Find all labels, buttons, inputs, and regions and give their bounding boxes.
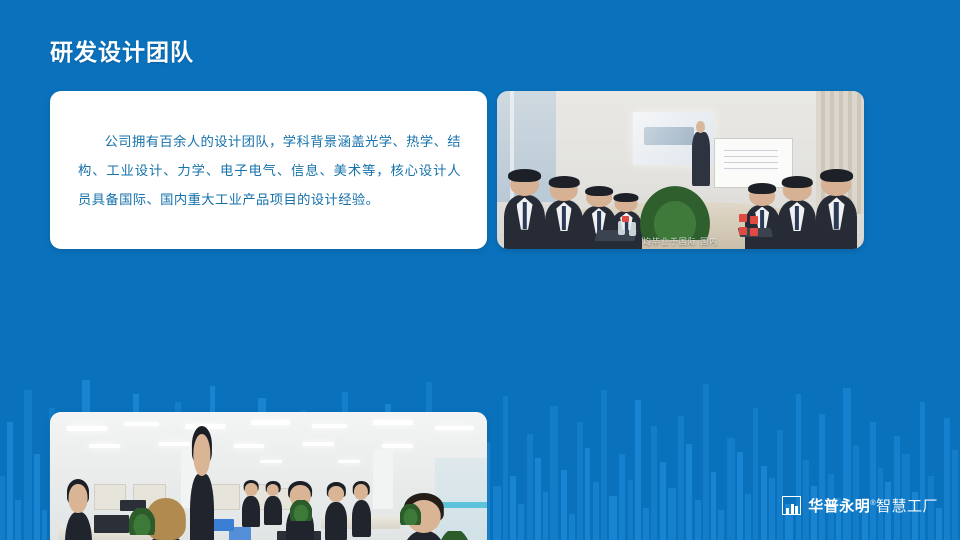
description-paragraph: 公司拥有百余人的设计团队，学科背景涵盖光学、热学、结构、工业设计、力学、电子电气… [78,127,461,214]
brand-logo: 华普永明®智慧工厂 [782,495,938,516]
office-window [435,458,487,540]
photo-open-office [50,412,487,540]
photo-caption: 均毕业于国际 国内 [497,236,864,247]
whiteboard [714,138,793,187]
meeting-room-illustration: 均毕业于国际 国内 [497,91,864,249]
brand-name: 华普永明 [808,498,870,515]
brand-sub: 智慧工厂 [876,498,938,515]
brand-wordmark: 华普永明®智慧工厂 [808,495,938,516]
open-office-illustration [50,412,487,540]
page-title: 研发设计团队 [50,33,194,67]
building-bars-icon [782,496,801,515]
presenter-figure [692,132,710,186]
table-plant [640,186,710,240]
photo-meeting-room: 均毕业于国际 国内 [497,91,864,249]
description-card: 公司拥有百余人的设计团队，学科背景涵盖光学、热学、结构、工业设计、力学、电子电气… [50,91,487,249]
slide-canvas: 研发设计团队 公司拥有百余人的设计团队，学科背景涵盖光学、热学、结构、工业设计、… [0,0,960,540]
